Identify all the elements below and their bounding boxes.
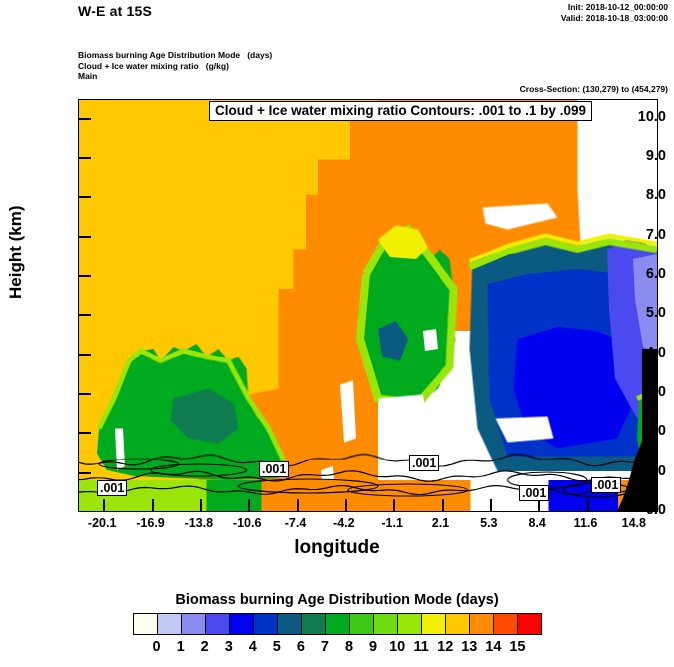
colorbar-tick-label: 5 [273,639,281,655]
valid-time: Valid: 2018-10-18_03:00:00 [561,13,668,24]
x-axis-tick [248,499,250,512]
colorbar-tick-label: 4 [249,639,257,655]
x-axis-tick-label: -13.8 [185,516,214,530]
colorbar-cell [302,614,326,634]
run-time-block: Init: 2018-10-12_00:00:00 Valid: 2018-10… [561,2,668,24]
x-axis-tick [200,499,202,512]
colorbar-tick-label: 2 [201,639,209,655]
x-axis-tick-label: -16.9 [136,516,165,530]
x-axis-tick [442,499,444,512]
x-axis-tick-label: 11.6 [574,516,598,530]
y-axis-tick [78,118,91,120]
colorbar-cell [230,614,254,634]
colorbar-tick-label: 7 [321,639,329,655]
contour-title-box: Cloud + Ice water mixing ratio Contours:… [209,101,592,121]
colorbar-cell [278,614,302,634]
y-axis-tick [78,157,91,159]
init-time: Init: 2018-10-12_00:00:00 [561,2,668,13]
x-axis-tick [635,499,637,512]
y-axis-tick [78,432,91,434]
y-axis-tick [78,393,91,395]
y-axis-tick [78,472,91,474]
colorbar-tick-label: 13 [461,639,477,655]
colorbar-cell [182,614,206,634]
x-axis-tick [393,499,395,512]
x-axis-tick-label: 5.3 [480,516,497,530]
colorbar-cell [134,614,158,634]
x-axis-tick-label: -7.4 [285,516,307,530]
colorbar-tick-label: 1 [177,639,185,655]
y-axis-tick [78,511,91,512]
colorbar-swatches [133,613,542,635]
colorbar-cell [494,614,518,634]
colorbar-cell [518,614,541,634]
age-distribution-field [79,100,657,511]
colorbar-tick-label: 9 [369,639,377,655]
x-axis-tick [490,499,492,512]
colorbar-cell [422,614,446,634]
colorbar-cell [326,614,350,634]
x-axis-title: longitude [0,537,674,559]
x-axis-tick-label: -4.2 [333,516,355,530]
x-axis-tick-label: 2.1 [432,516,449,530]
x-axis-tick [297,499,299,512]
contour-label: .001 [97,480,127,496]
colorbar-tick-label: 11 [414,639,429,655]
colorbar-cell [374,614,398,634]
contour-label: .001 [519,485,549,501]
colorbar-cell [254,614,278,634]
contour-label: .001 [591,477,621,493]
x-axis-tick-label: -1.1 [381,516,403,530]
colorbar-tick-label: 0 [153,639,161,655]
y-axis-tick [78,196,91,198]
colorbar-cell [398,614,422,634]
colorbar-cell [206,614,230,634]
colorbar-cell [446,614,470,634]
x-axis-tick [345,499,347,512]
colorbar-cell [350,614,374,634]
colorbar-tick-label: 6 [297,639,305,655]
field-description: Biomass burning Age Distribution Mode (d… [78,50,272,82]
colorbar-tick-label: 12 [437,639,453,655]
colorbar-title: Biomass burning Age Distribution Mode (d… [0,592,674,608]
x-axis-tick-label: -10.6 [233,516,262,530]
page-title: W-E at 15S [78,3,152,19]
colorbar: Biomass burning Age Distribution Mode (d… [0,592,674,659]
contour-label: .001 [259,461,289,477]
y-axis-tick [78,354,91,356]
cross-section-endpoints: Cross-Section: (130,279) to (454,279) [520,84,668,94]
x-axis-tick [103,499,105,512]
colorbar-tick-labels: 0123456789101112131415 [133,639,542,659]
colorbar-cell [470,614,494,634]
x-axis-tick [152,499,154,512]
cross-section-plot: Cloud + Ice water mixing ratio Contours:… [78,99,658,512]
colorbar-cell [158,614,182,634]
y-axis-title: Height (km) [6,206,26,300]
x-axis-tick-label: -20.1 [88,516,117,530]
contour-label: .001 [409,455,439,471]
colorbar-tick-label: 14 [485,639,501,655]
x-axis-tick-labels: -20.1-16.9-13.8-10.6-7.4-4.2-1.12.15.38.… [0,516,674,536]
y-axis-tick [78,314,91,316]
colorbar-tick-label: 15 [509,639,525,655]
x-axis-tick-label: 8.4 [528,516,545,530]
colorbar-tick-label: 3 [225,639,233,655]
colorbar-tick-label: 10 [389,639,405,655]
y-axis-tick [78,236,91,238]
x-axis-tick-label: 14.8 [622,516,646,530]
colorbar-tick-label: 8 [345,639,353,655]
y-axis-tick [78,275,91,277]
x-axis-tick [587,499,589,512]
